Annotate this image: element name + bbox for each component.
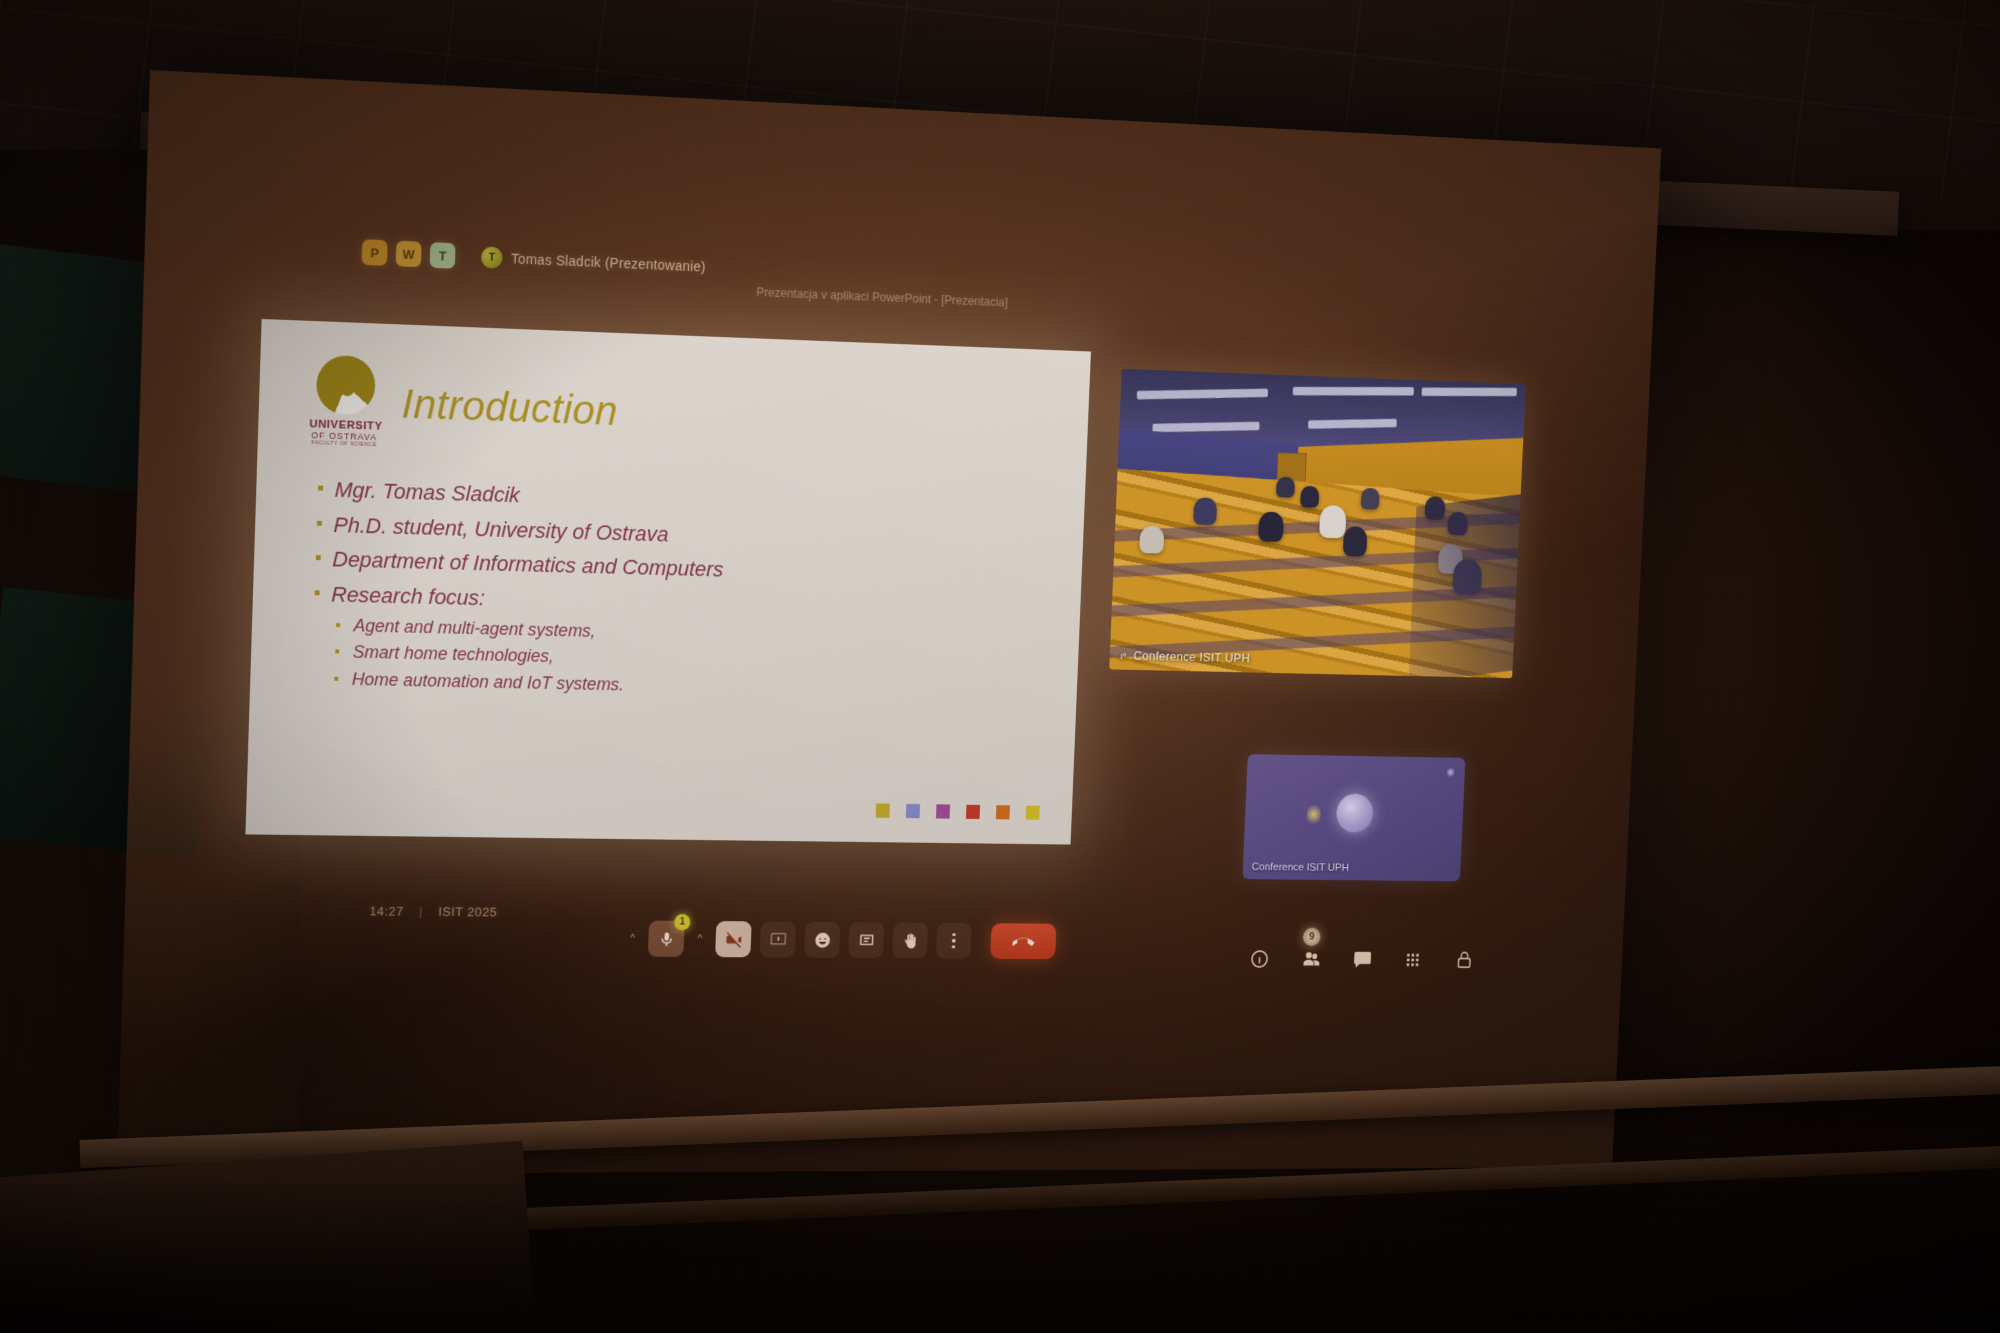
slide-header: UNIVERSITY OF OSTRAVA FACULTY OF SCIENCE… [309,354,1066,470]
camera-button[interactable] [715,921,752,957]
lecture-hall-tile[interactable]: Iª Conference ISIT UPH [1109,369,1526,678]
mic-chevron-up-icon[interactable]: ^ [626,933,640,945]
powerpoint-tab-icon[interactable]: P [362,239,388,266]
participants-button[interactable]: 9 [1299,947,1323,971]
lock-button[interactable] [1452,948,1475,972]
participant-count-badge: 9 [1303,928,1321,947]
presenter-chip[interactable]: T Tomas Sladcik (Prezentowanie) [481,246,706,277]
microphone-button[interactable]: 1 [648,921,685,957]
color-swatch [1026,806,1040,820]
floor-shadow [0,1183,2000,1333]
tile-label: Iª Conference ISIT UPH [1120,648,1250,665]
slide-title: Introduction [401,383,619,431]
slide-bullet-list: Mgr. Tomas Sladcik Ph.D. student, Univer… [301,471,1062,707]
meeting-right-rail: 9 [1247,947,1475,972]
projection-screen: P W T T Tomas Sladcik (Prezentowanie) Pr… [117,70,1661,1175]
presenter-avatar: T [481,246,503,268]
logo-line-3: FACULTY OF SCIENCE [309,440,379,448]
more-options-button[interactable] [936,923,972,959]
color-swatch [966,805,980,819]
slide-color-swatches [876,803,1040,819]
color-swatch [996,805,1010,819]
more-vertical-icon [952,933,956,948]
layout-button[interactable] [1401,948,1425,972]
color-swatch [906,804,920,818]
meeting-control-bar: ^ 1 ^ [625,920,1056,959]
meeting-info-button[interactable] [1247,947,1271,971]
color-swatch [936,804,950,818]
lecture-room-photo: P W T T Tomas Sladcik (Prezentowanie) Pr… [0,0,2000,1333]
university-mark-icon [316,355,376,416]
share-screen-button[interactable] [760,921,797,957]
avatar-highlight-icon [1306,803,1321,827]
avatar-tile[interactable]: Conference ISIT UPH [1242,754,1465,881]
shared-slide: UNIVERSITY OF OSTRAVA FACULTY OF SCIENCE… [245,319,1091,845]
footer-event-name: ISIT 2025 [438,904,497,919]
reactions-button[interactable] [804,922,840,958]
end-call-button[interactable] [990,923,1056,959]
teams-tab-icon[interactable]: T [430,242,456,269]
hall-right-shadow [1409,494,1521,678]
chat-button[interactable] [1350,947,1374,971]
camera-chevron-up-icon[interactable]: ^ [693,933,706,944]
presenter-name-label: Tomas Sladcik (Prezentowanie) [511,251,706,275]
tile-label-superscript: Iª [1120,652,1126,661]
document-tab-icon[interactable]: W [396,241,422,268]
tile-label-text: Conference ISIT UPH [1133,648,1250,665]
teams-meeting-window: P W T T Tomas Sladcik (Prezentowanie) Pr… [239,225,1552,1050]
mic-badge: 1 [674,914,690,930]
pin-icon[interactable] [1446,767,1454,778]
university-logo: UNIVERSITY OF OSTRAVA FACULTY OF SCIENCE [309,354,382,448]
footer-separator: | [419,904,423,919]
color-swatch [876,803,890,817]
avatar-tile-label: Conference ISIT UPH [1251,862,1349,874]
present-button[interactable] [848,922,884,958]
meeting-footer: 14:27 | ISIT 2025 [369,904,497,920]
avatar [1336,794,1374,833]
footer-time: 14:27 [369,904,404,919]
raise-hand-button[interactable] [892,922,928,958]
